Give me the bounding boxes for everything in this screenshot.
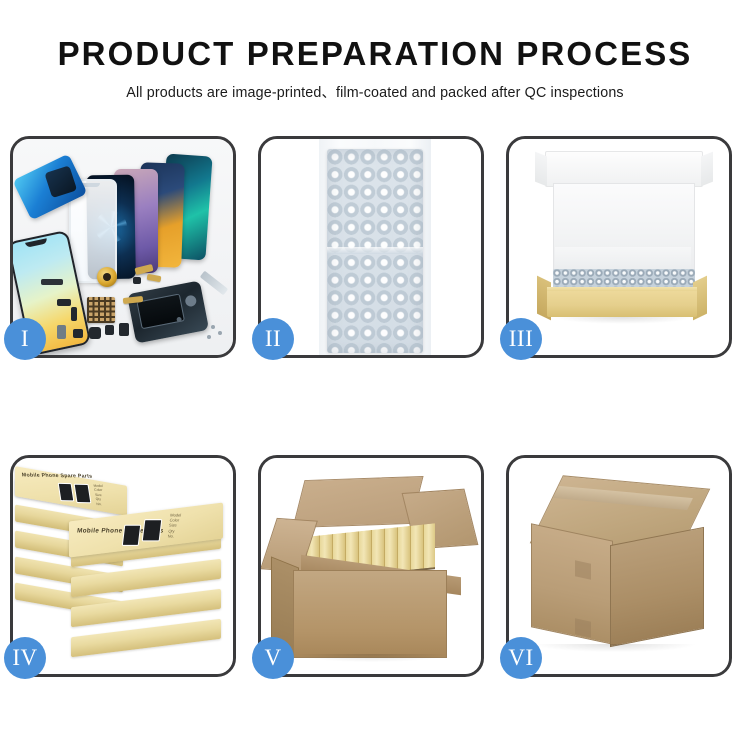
packed-box-8 xyxy=(398,526,411,571)
wrap-fold-line xyxy=(327,247,423,254)
drop-shadow xyxy=(553,317,693,324)
speaker-coil-icon xyxy=(97,267,117,287)
process-row-bottom: Mobile Phone Spare Parts Model Color Siz… xyxy=(0,446,750,756)
box-lid-flap xyxy=(545,151,703,187)
step-panel-sealed-carton[interactable] xyxy=(506,455,732,677)
page-subtitle: All products are image-printed、film-coat… xyxy=(0,72,750,102)
component-6 xyxy=(73,329,83,338)
stack-slab-right-4 xyxy=(71,619,221,657)
component-5 xyxy=(119,323,129,336)
step-image-bubble-wrap xyxy=(261,139,481,355)
process-step-grid: I II I xyxy=(0,136,750,756)
component-2 xyxy=(71,307,77,321)
page-title: PRODUCT PREPARATION PROCESS xyxy=(0,0,750,72)
packed-box-9 xyxy=(411,524,424,569)
box-phone-image-2 xyxy=(74,484,92,504)
box-spec-lines-front: Model Color Size Qty No. xyxy=(167,512,181,538)
box-label-rear: Mobile Phone Spare Parts xyxy=(22,472,93,479)
step-image-phone-parts xyxy=(13,139,233,355)
box-front-wall xyxy=(547,291,697,317)
box-phone-image-1 xyxy=(58,483,75,502)
carton-handle-tab-top xyxy=(575,560,591,579)
drop-shadow xyxy=(535,644,695,652)
packed-box-7 xyxy=(385,527,398,572)
drop-shadow xyxy=(297,654,447,662)
component-3 xyxy=(89,327,101,339)
step-badge-3: III xyxy=(500,318,542,360)
screw-1 xyxy=(211,325,215,329)
step-image-sealed-carton xyxy=(509,458,729,674)
step-badge-4: IV xyxy=(4,637,46,679)
component-4 xyxy=(105,325,114,335)
step-badge-6: VI xyxy=(500,637,542,679)
step-panel-phone-parts[interactable] xyxy=(10,136,236,358)
step-panel-stacked-boxes[interactable]: Mobile Phone Spare Parts Model Color Siz… xyxy=(10,455,236,677)
step-image-stacked-boxes: Mobile Phone Spare Parts Model Color Siz… xyxy=(13,458,233,674)
process-row-top: I II I xyxy=(0,136,750,446)
sim-tray xyxy=(57,325,66,339)
step-image-open-carton xyxy=(261,458,481,674)
carton-left-face xyxy=(531,523,613,644)
box-phone-image-4 xyxy=(142,519,163,541)
carton-front-face xyxy=(293,570,447,658)
step-badge-5: V xyxy=(252,637,294,679)
step-badge-1: I xyxy=(4,318,46,360)
screw-3 xyxy=(207,335,211,339)
box-phone-image-3 xyxy=(122,525,141,546)
chip-array xyxy=(87,297,115,323)
box-stack: Mobile Phone Spare Parts Model Color Siz… xyxy=(13,458,233,674)
packed-box-10 xyxy=(424,523,435,568)
component-7 xyxy=(133,277,141,284)
carton-handle-tab-bottom xyxy=(575,618,591,637)
step-panel-open-carton[interactable] xyxy=(258,455,484,677)
screw-2 xyxy=(218,331,222,335)
component-1 xyxy=(57,299,71,306)
step-panel-bubble-wrap[interactable] xyxy=(258,136,484,358)
page-header: PRODUCT PREPARATION PROCESS All products… xyxy=(0,0,750,102)
carton-right-face xyxy=(610,527,704,647)
box-spec-lines-rear: Model Color Size Qty No. xyxy=(93,484,106,507)
step-panel-mailer-box[interactable] xyxy=(506,136,732,358)
step-image-mailer-box xyxy=(509,139,729,355)
earpiece-bar xyxy=(41,279,63,285)
step-badge-2: II xyxy=(252,318,294,360)
